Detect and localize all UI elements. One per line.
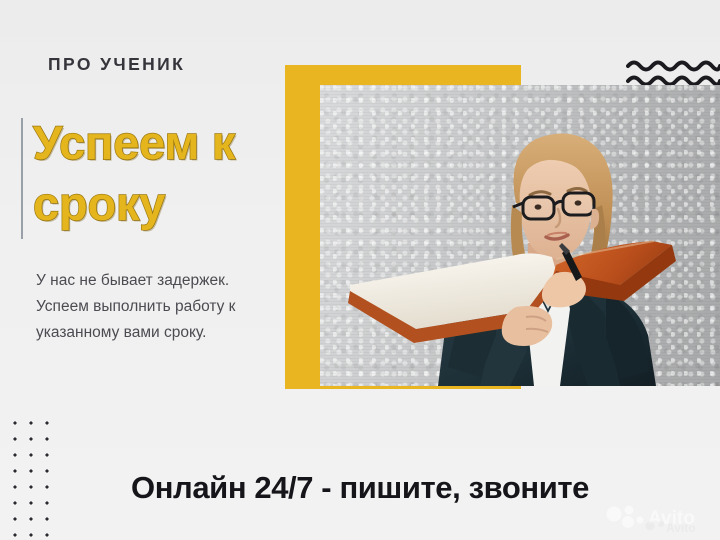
eyebrow-label: ПРО УЧЕНИК <box>48 54 185 75</box>
svg-text:Avito: Avito <box>666 521 696 533</box>
hero-photo <box>320 85 720 386</box>
promo-banner: ПРО УЧЕНИК Успеем к сроку У нас не бывае… <box>0 0 720 540</box>
footer-headline: Онлайн 24/7 - пишите, звоните <box>0 470 720 506</box>
photo-subject <box>320 85 720 386</box>
page-title: Успеем к сроку <box>33 112 265 234</box>
body-copy: У нас не бывает задержек. Успеем выполни… <box>36 268 241 346</box>
heading-accent-rule <box>21 118 23 239</box>
avito-watermark: Avito Avito <box>604 503 710 533</box>
